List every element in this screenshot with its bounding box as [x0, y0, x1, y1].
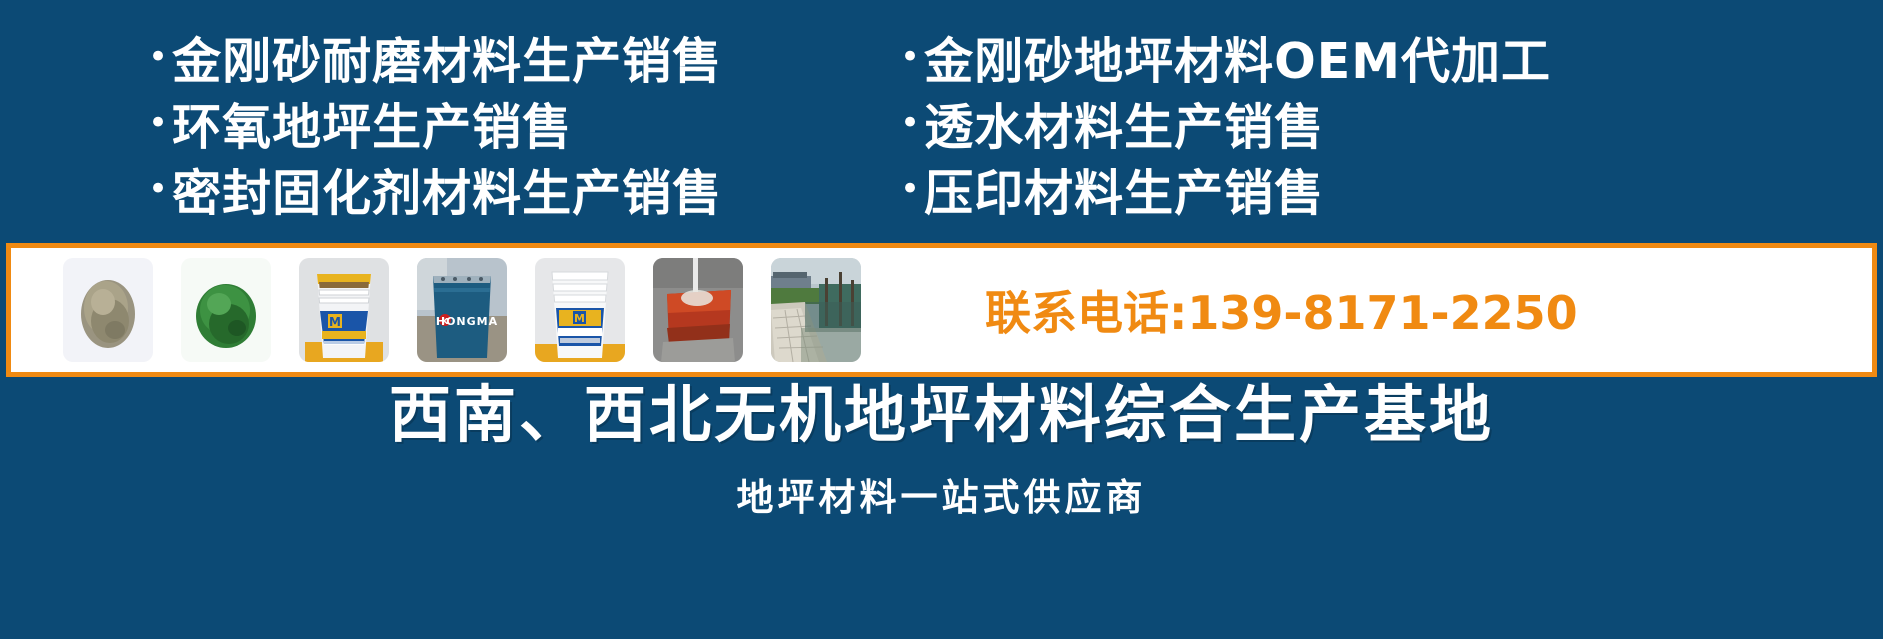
page-subtitle: 地坪材料一站式供应商	[0, 467, 1883, 521]
service-label: 金刚砂耐磨材料生产销售	[172, 37, 722, 86]
epoxy-floor-coating-bucket-photo[interactable]: M	[535, 258, 625, 362]
bullet-dot-icon: •	[148, 106, 168, 140]
red-permeable-aggregate-photo[interactable]	[653, 258, 743, 362]
service-label: 密封固化剂材料生产销售	[172, 169, 722, 218]
service-label: 压印材料生产销售	[924, 169, 1324, 218]
green-aggregate-powder-photo[interactable]	[181, 258, 271, 362]
bullet-dot-icon: •	[148, 40, 168, 74]
service-item-left-3: • 密封固化剂材料生产销售	[148, 160, 880, 226]
service-item-left-2: • 环氧地坪生产销售	[148, 94, 880, 160]
service-label: 透水材料生产销售	[924, 103, 1324, 152]
page-title: 西南、西北无机地坪材料综合生产基地	[0, 382, 1883, 447]
stamped-pathway-photo[interactable]	[771, 258, 861, 362]
service-item-left-1: • 金刚砂耐磨材料生产销售	[148, 28, 880, 94]
bullet-dot-icon: •	[900, 172, 920, 206]
footer-text-area: 西南、西北无机地坪材料综合生产基地 地坪材料一站式供应商	[0, 382, 1883, 521]
services-left-column: • 金刚砂耐磨材料生产销售 • 环氧地坪生产销售 • 密封固化剂材料生产销售	[0, 28, 880, 226]
services-bullet-area: • 金刚砂耐磨材料生产销售 • 环氧地坪生产销售 • 密封固化剂材料生产销售 •…	[0, 28, 1883, 258]
concrete-sealer-bucket-photo[interactable]: M	[299, 258, 389, 362]
service-item-right-2: • 透水材料生产销售	[900, 94, 1883, 160]
svg-text:M: M	[574, 312, 585, 325]
service-item-right-1: • 金刚砂地坪材料OEM代加工	[900, 28, 1883, 94]
product-thumbnail-list: M K	[11, 248, 889, 372]
bullet-dot-icon: •	[900, 106, 920, 140]
bullet-dot-icon: •	[148, 172, 168, 206]
bullet-dot-icon: •	[900, 40, 920, 74]
svg-text:M: M	[329, 315, 341, 329]
promotional-banner: • 金刚砂耐磨材料生产销售 • 环氧地坪生产销售 • 密封固化剂材料生产销售 •…	[0, 0, 1883, 639]
services-right-column: • 金刚砂地坪材料OEM代加工 • 透水材料生产销售 • 压印材料生产销售	[880, 28, 1883, 226]
svg-text:HONGMA: HONGMA	[436, 315, 498, 328]
service-label: 环氧地坪生产销售	[172, 103, 572, 152]
service-item-right-3: • 压印材料生产销售	[900, 160, 1883, 226]
product-strip: M K	[6, 243, 1877, 377]
hongma-blue-drum-photo[interactable]: K HONGMA	[417, 258, 507, 362]
gray-aggregate-powder-photo[interactable]	[63, 258, 153, 362]
service-label: 金刚砂地坪材料OEM代加工	[924, 37, 1551, 86]
contact-phone[interactable]: 联系电话:139-8171-2250	[985, 277, 1578, 343]
